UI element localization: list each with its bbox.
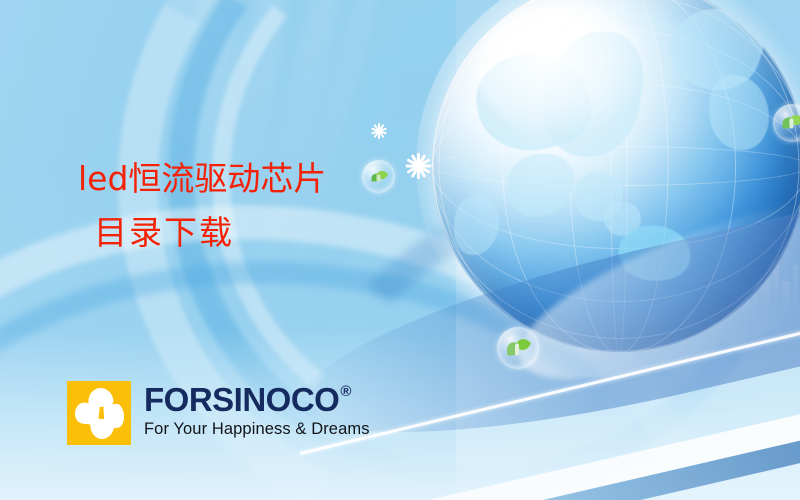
swoosh-band-blue-edge: [438, 385, 800, 500]
headline-line-1: led恒流驱动芯片: [78, 162, 408, 195]
logo-wordmark: FORSINOCO ®: [144, 383, 370, 416]
logo-tagline: For Your Happiness & Dreams: [144, 420, 370, 438]
headline-block: led恒流驱动芯片 目录下载: [78, 162, 408, 249]
logo-text-block: FORSINOCO ® For Your Happiness & Dreams: [144, 381, 370, 438]
sparkle-asterisk-icon: [404, 152, 432, 180]
background-band-3: [236, 0, 354, 315]
bubble-core: [783, 115, 800, 132]
background-band-4: [269, 0, 391, 312]
swoosh-band-white-wide: [427, 361, 800, 500]
bubble-icon-mid: [497, 327, 539, 369]
company-logo: FORSINOCO ® For Your Happiness & Dreams: [67, 381, 370, 445]
sparkle-asterisk-small-icon: [370, 122, 387, 139]
globe-icon: [432, 0, 800, 352]
four-petal-pinwheel-icon: [67, 381, 131, 445]
promo-banner: led恒流驱动芯片 目录下载 FORSINOCO ® For Your Happ…: [0, 0, 800, 500]
registered-trademark-icon: ®: [340, 384, 351, 399]
globe-sphere: [432, 0, 800, 352]
headline-line-2: 目录下载: [78, 216, 408, 249]
bubble-core: [507, 339, 529, 358]
logo-petal: [89, 418, 114, 440]
logo-name-text: FORSINOCO: [144, 383, 339, 416]
